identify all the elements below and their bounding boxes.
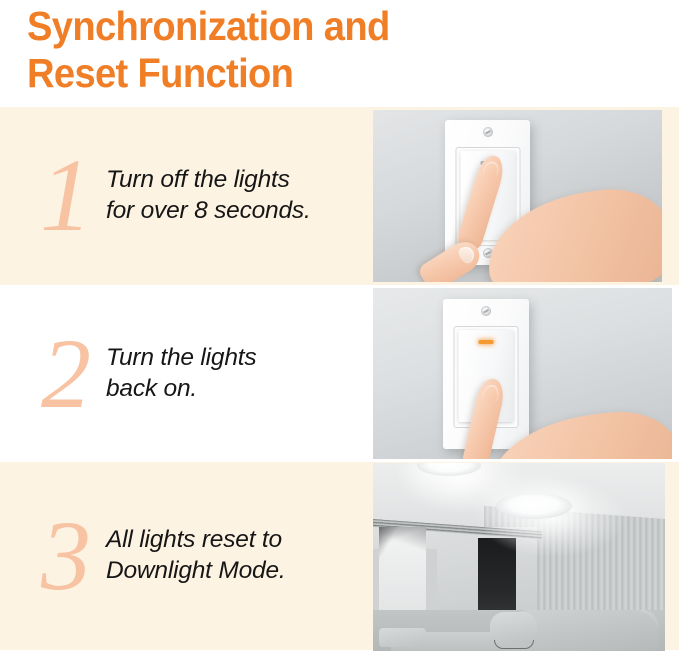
step-2-description-line-1: Turn the lights: [106, 343, 359, 374]
step-3-number: 3: [30, 516, 102, 596]
switch-wall-plate: [443, 299, 529, 449]
step-2-image: [373, 288, 672, 459]
screw-icon: [483, 127, 493, 137]
step-1-text-cell: 1 Turn off the lights for over 8 seconds…: [0, 107, 373, 285]
step-1-description-line-1: Turn off the lights: [106, 165, 359, 196]
step-2-text-cell: 2 Turn the lights back on.: [0, 288, 373, 459]
ceiling-downlight: [496, 493, 572, 519]
screw-icon: [481, 432, 491, 442]
step-1-number: 1: [30, 154, 102, 237]
step-3-text-cell: 3 All lights reset to Downlight Mode.: [0, 462, 373, 650]
page-title: Synchronization and Reset Function: [0, 0, 679, 105]
step-2-description: Turn the lights back on.: [106, 343, 373, 405]
downlight-glow: [478, 478, 628, 558]
screw-icon: [483, 248, 493, 258]
page-title-line-2: Reset Function: [27, 53, 293, 94]
step-3-description-line-1: All lights reset to: [106, 525, 359, 556]
instruction-graphic: Synchronization and Reset Function 1 Tur…: [0, 0, 679, 650]
switch-indicator-led-lit: [479, 340, 494, 344]
living-room-scene: [373, 463, 665, 651]
screw-icon: [481, 306, 491, 316]
page-title-line-1: Synchronization and: [27, 6, 390, 47]
switch-indicator-led: [480, 161, 495, 165]
step-3-image: [373, 463, 665, 651]
step-3-description: All lights reset to Downlight Mode.: [106, 525, 373, 587]
step-1-description: Turn off the lights for over 8 seconds.: [106, 165, 373, 227]
step-row-2: 2 Turn the lights back on.: [0, 288, 679, 459]
step-2-description-line-2: back on.: [106, 374, 359, 405]
step-1-description-line-2: for over 8 seconds.: [106, 196, 359, 227]
switch-wall-plate: [445, 120, 530, 265]
armchair: [490, 612, 537, 644]
step-3-description-line-2: Downlight Mode.: [106, 556, 359, 587]
side-table: [379, 628, 426, 647]
step-row-1: 1 Turn off the lights for over 8 seconds…: [0, 107, 679, 285]
step-2-number: 2: [30, 334, 102, 414]
step-row-3: 3 All lights reset to Downlight Mode.: [0, 462, 679, 650]
step-1-image: [373, 110, 662, 282]
